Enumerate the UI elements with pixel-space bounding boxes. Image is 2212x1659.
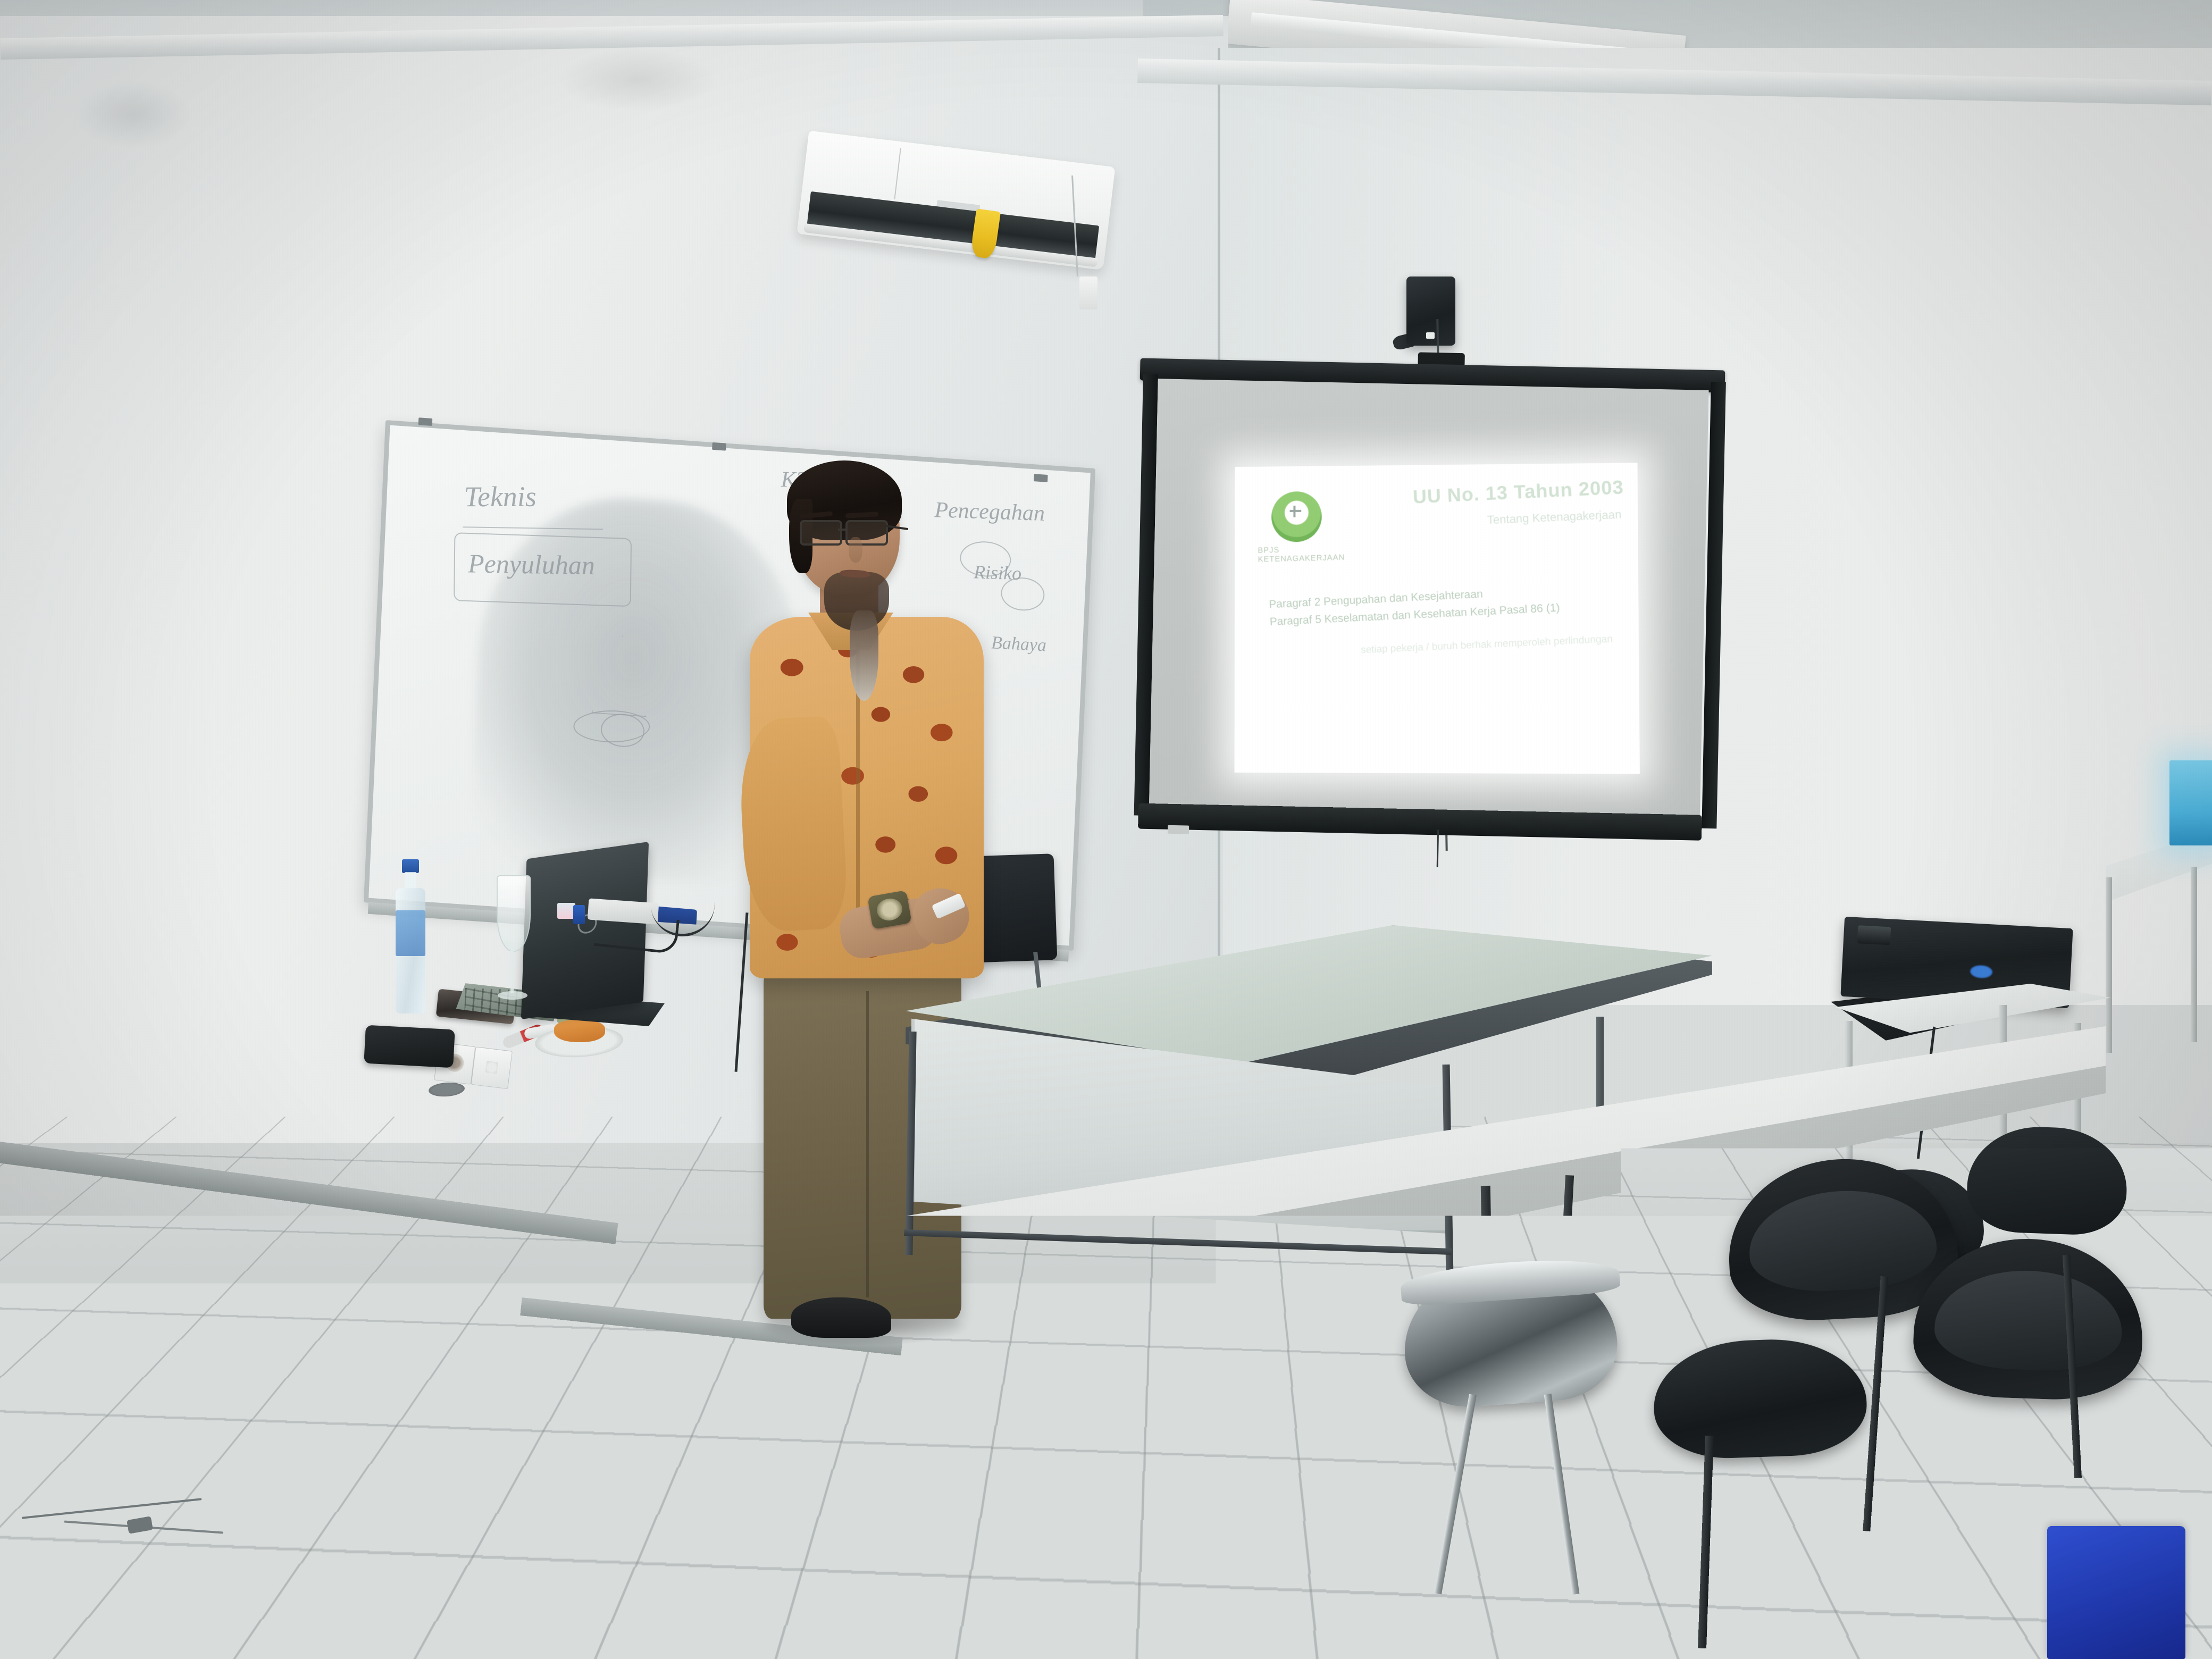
whiteboard-circle-right-2 <box>1000 576 1045 612</box>
window-light <box>2169 760 2212 845</box>
slide-body: Paragraf 2 Pengupahan dan Kesejahteraan … <box>1269 579 1621 631</box>
whiteboard-clip <box>712 442 726 451</box>
glass-bowl <box>497 875 531 952</box>
presenter-glasses <box>800 520 896 542</box>
sticky-note[interactable] <box>557 903 575 919</box>
wall-smudge <box>74 80 191 149</box>
projector-lens-icon <box>1857 925 1891 945</box>
projected-slide: BPJS KETENAGAKERJAAN UU No. 13 Tahun 200… <box>1235 463 1640 774</box>
organization-logo-icon <box>1271 491 1322 542</box>
glass-stem <box>510 948 514 993</box>
whiteboard-note-2: Penyuluhan <box>468 548 595 581</box>
slide-title: UU No. 13 Tahun 2003 <box>1412 476 1624 508</box>
presenter-goatee <box>850 610 878 701</box>
glasses-bridge <box>838 529 848 531</box>
glasses-lens-left <box>800 520 842 546</box>
folding-table-leg <box>915 1324 935 1622</box>
projector-indicator-light <box>1970 965 1992 978</box>
watch-face <box>875 896 904 923</box>
slide-subtitle: Tentang Ketenagakerjaan <box>1487 507 1622 527</box>
logo-ring <box>1271 491 1322 542</box>
black-pouch[interactable] <box>364 1025 455 1068</box>
whiteboard-clip <box>418 417 432 426</box>
usb-flash-drive[interactable] <box>573 905 585 924</box>
light-switch[interactable] <box>485 1061 499 1074</box>
ac-switch-box[interactable] <box>1079 276 1097 309</box>
bottle-cap <box>402 859 419 873</box>
table-leg <box>2191 867 2197 1042</box>
bottle-label <box>396 910 425 956</box>
whiteboard-note-1: Teknis <box>464 480 537 513</box>
snack-food <box>554 1020 605 1042</box>
folding-table-leg <box>1551 1175 1574 1462</box>
projection-screen-assembly: BPJS KETENAGAKERJAAN UU No. 13 Tahun 200… <box>1130 358 1731 851</box>
ac-panel-split <box>894 148 901 199</box>
folding-table-leg <box>1481 1186 1496 1505</box>
screen-pull-tab[interactable] <box>1168 825 1189 834</box>
folding-table-dimple <box>917 1286 950 1301</box>
folding-table <box>819 1026 2106 1659</box>
presenter-nose <box>849 537 862 563</box>
bottle-neck <box>405 872 416 890</box>
screen-surface: BPJS KETENAGAKERJAAN UU No. 13 Tahun 200… <box>1149 379 1709 824</box>
whiteboard-note-6: Bahaya <box>991 633 1047 656</box>
water-bottle[interactable] <box>396 859 425 1013</box>
wine-glass[interactable] <box>493 875 532 1008</box>
wall-speaker <box>1406 276 1455 346</box>
logo-cross-horizontal <box>1289 509 1301 512</box>
logo-caption: BPJS KETENAGAKERJAAN <box>1258 544 1336 564</box>
wall-smudge <box>558 48 718 112</box>
whiteboard-clip <box>1034 474 1048 482</box>
classroom-photo-scene: Teknis Penyuluhan K3 Pencegahan Risiko B… <box>0 0 2212 1659</box>
presenter-wristwatch <box>867 890 912 929</box>
slide-footer: setiap pekerja / buruh berhak memperoleh… <box>1361 635 1585 657</box>
folding-table-crossbar <box>925 1574 1510 1614</box>
speaker-led <box>1426 332 1435 339</box>
glass-foot <box>498 991 527 1000</box>
